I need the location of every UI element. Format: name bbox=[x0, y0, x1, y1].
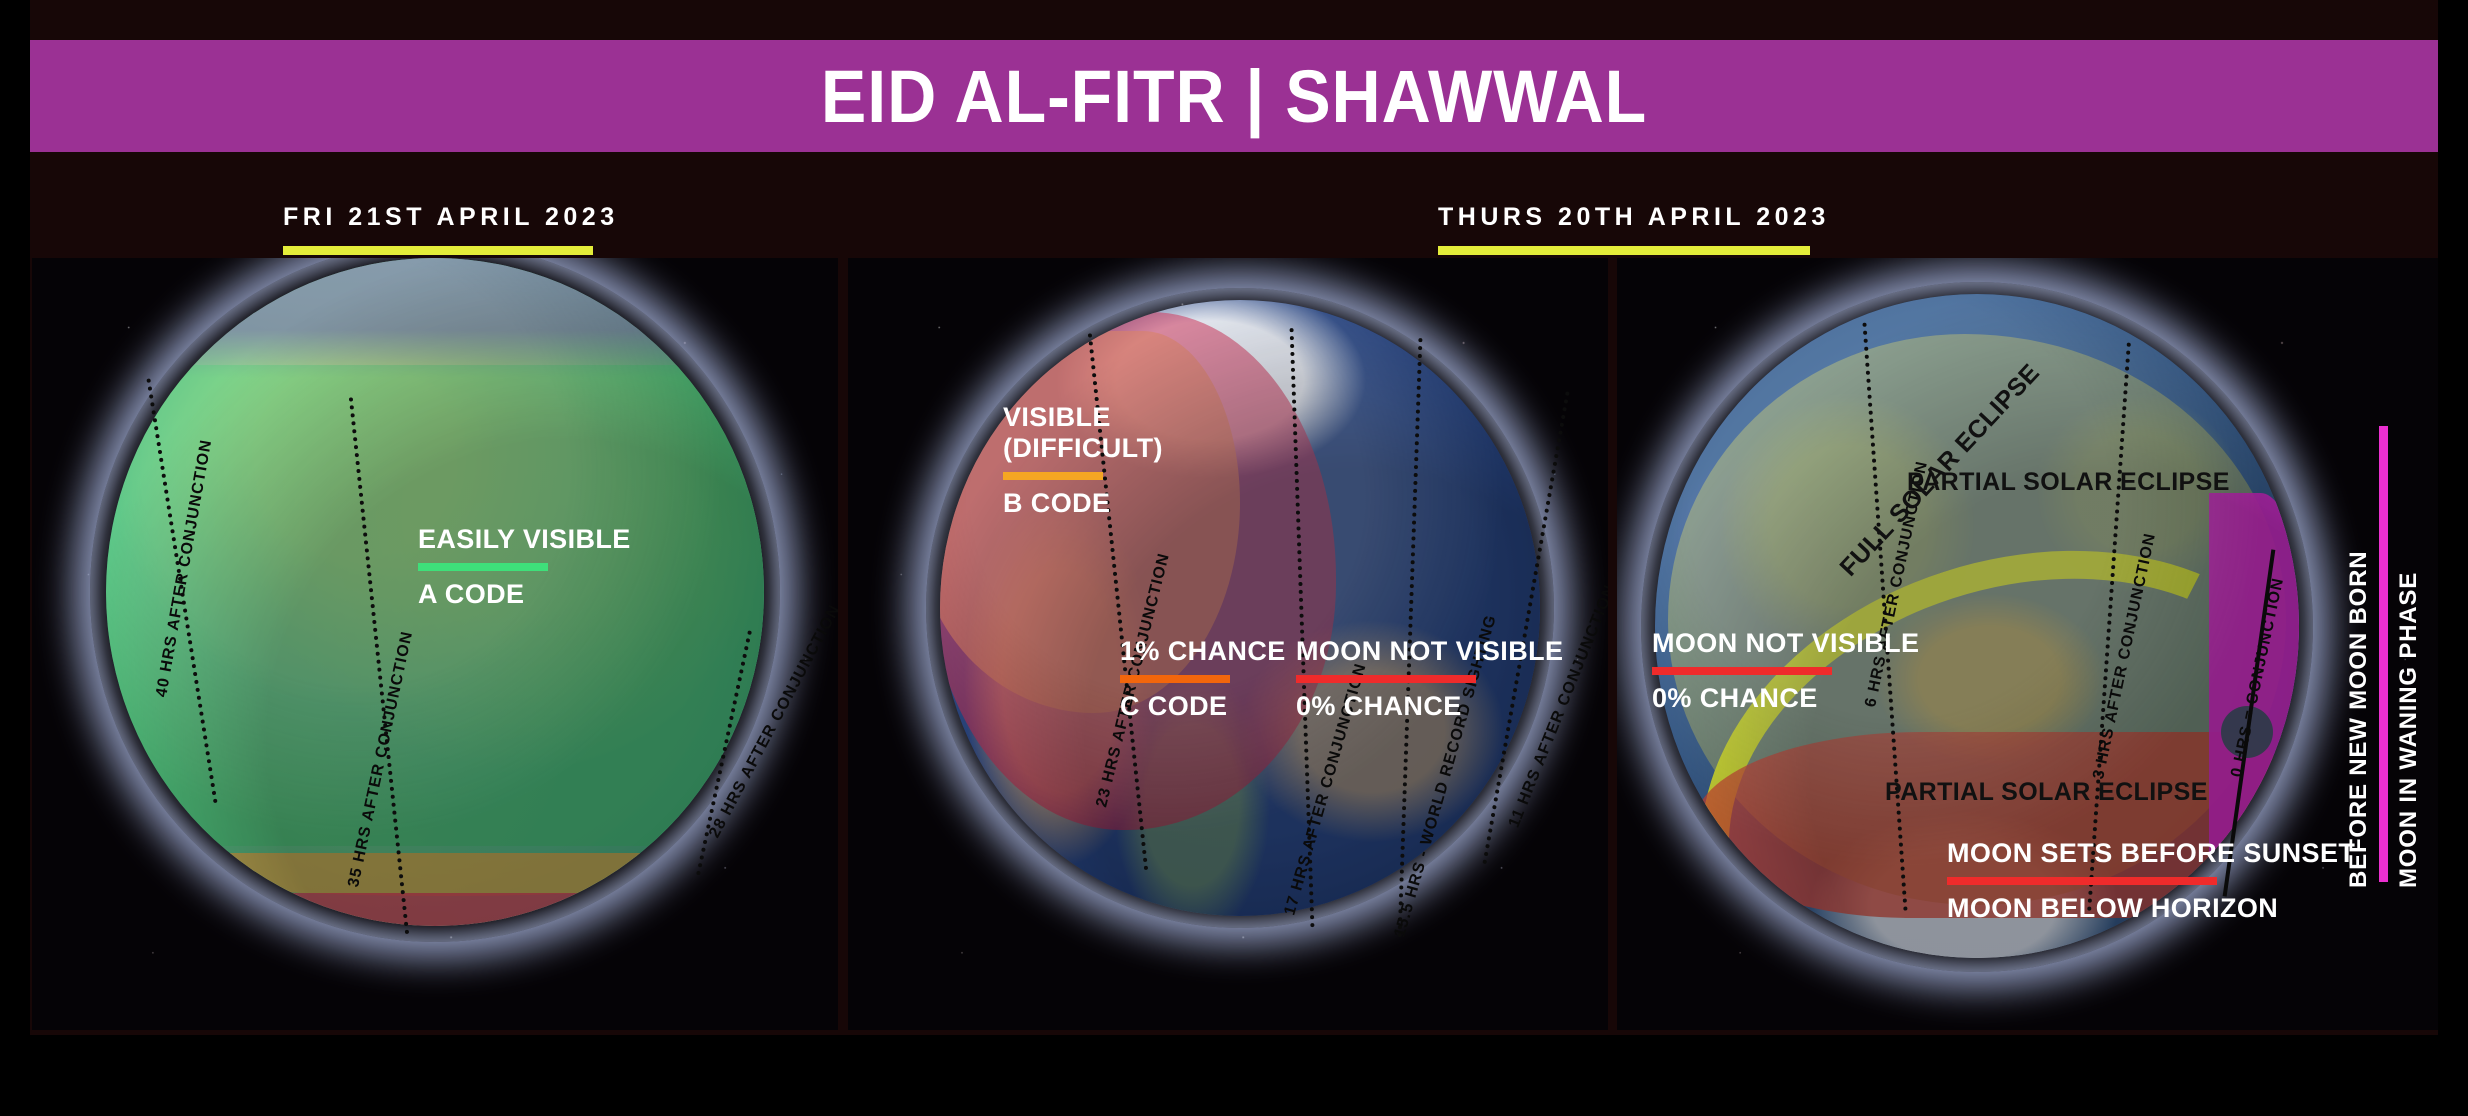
legend-moonsets-title: MOON SETS BEFORE SUNSET bbox=[1947, 838, 2355, 869]
legend-notvisible-rule bbox=[1296, 675, 1476, 683]
legend-c-title: 1% CHANCE bbox=[1120, 636, 1286, 667]
date-underline-left bbox=[283, 246, 593, 255]
globe-panel-eclipse: 6 HRS AFTER CONJUNCTION 3 HRS AFTER CONJ… bbox=[1617, 258, 2438, 1030]
legend-a-code: A CODE bbox=[418, 579, 631, 610]
globe-shading bbox=[940, 300, 1540, 916]
legend-a-code: EASILY VISIBLE A CODE bbox=[418, 524, 631, 610]
date-label-left: FRI 21ST APRIL 2023 bbox=[283, 203, 619, 232]
legend-b-code: VISIBLE (DIFFICULT) B CODE bbox=[1003, 402, 1163, 519]
legend-b-code: B CODE bbox=[1003, 488, 1163, 519]
poster-canvas: EID AL-FITR | SHAWWAL FRI 21ST APRIL 202… bbox=[0, 0, 2468, 1116]
legend-notvisible-rule bbox=[1652, 667, 1832, 675]
legend-not-visible: MOON NOT VISIBLE 0% CHANCE bbox=[1652, 628, 1919, 714]
legend-notvisible-title: MOON NOT VISIBLE bbox=[1652, 628, 1919, 659]
legend-b-title: VISIBLE bbox=[1003, 402, 1163, 433]
globe-earth-thursday bbox=[940, 300, 1540, 916]
side-legend-bar bbox=[2379, 426, 2388, 882]
date-header-right: THURS 20TH APRIL 2023 bbox=[1438, 203, 1830, 255]
date-header-left: FRI 21ST APRIL 2023 bbox=[283, 203, 619, 255]
globe-panel-friday: 40 HRS AFTER CONJUNCTION 35 HRS AFTER CO… bbox=[32, 258, 838, 1030]
legend-a-title: EASILY VISIBLE bbox=[418, 524, 631, 555]
side-legend-waning-phase: MOON IN WANING PHASE bbox=[2395, 418, 2423, 888]
legend-notvisible-title: MOON NOT VISIBLE bbox=[1296, 636, 1563, 667]
legend-c-code: 1% CHANCE C CODE bbox=[1120, 636, 1286, 722]
legend-b-title2: (DIFFICULT) bbox=[1003, 433, 1163, 464]
title-banner: EID AL-FITR | SHAWWAL bbox=[30, 40, 2438, 152]
legend-moonsets-rule bbox=[1947, 877, 2217, 885]
legend-notvisible-code: 0% CHANCE bbox=[1652, 683, 1919, 714]
legend-c-code: C CODE bbox=[1120, 691, 1286, 722]
side-legend-before-new-moon: BEFORE NEW MOON BORN bbox=[2345, 418, 2373, 888]
legend-b-rule bbox=[1003, 472, 1103, 480]
legend-moonsets-code: MOON BELOW HORIZON bbox=[1947, 893, 2355, 924]
legend-a-rule bbox=[418, 563, 548, 571]
legend-notvisible-code: 0% CHANCE bbox=[1296, 691, 1563, 722]
date-label-right: THURS 20TH APRIL 2023 bbox=[1438, 203, 1830, 232]
side-legend-waning: BEFORE NEW MOON BORN MOON IN WANING PHAS… bbox=[2345, 418, 2425, 898]
label-partial-solar-eclipse-bottom: PARTIAL SOLAR ECLIPSE bbox=[1885, 778, 2208, 807]
globe-panel-thursday: 23 HRS AFTER CONJUNCTION 17 HRS AFTER CO… bbox=[848, 258, 1608, 1030]
legend-c-rule bbox=[1120, 675, 1230, 683]
date-underline-right bbox=[1438, 246, 1810, 255]
legend-not-visible: MOON NOT VISIBLE 0% CHANCE bbox=[1296, 636, 1563, 722]
legend-moon-sets: MOON SETS BEFORE SUNSET MOON BELOW HORIZ… bbox=[1947, 838, 2355, 924]
page-title: EID AL-FITR | SHAWWAL bbox=[821, 54, 1647, 139]
